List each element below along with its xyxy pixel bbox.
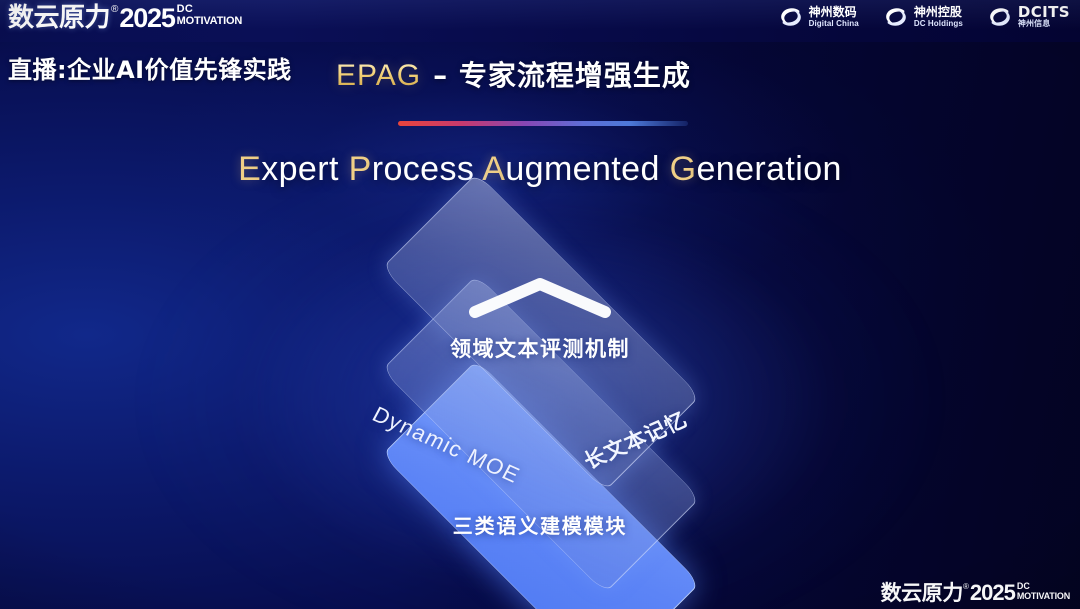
subtitle-part: xpert xyxy=(261,150,348,188)
footer-watermark-logo: 数云原力 ® 2025 DC MOTIVATION xyxy=(881,581,1070,605)
subtitle-expansion: Expert Process Augmented Generation xyxy=(238,150,842,189)
partner-name-en: Digital China xyxy=(809,19,859,29)
subtitle-part: E xyxy=(238,150,261,188)
watermark-subtag: DC MOTIVATION xyxy=(1017,582,1070,601)
presentation-slide: 数云原力 ® 2025 DC MOTIVATION 直播:企业AI价值先锋实践 … xyxy=(0,0,1080,609)
partner-name-en: DC Holdings xyxy=(914,19,963,29)
live-broadcast-label: 直播:企业AI价值先锋实践 xyxy=(8,50,292,85)
watermark-year: 2025 xyxy=(970,581,1015,605)
watermark-dc: DC xyxy=(1017,582,1070,591)
partner-logo-text: DCITS 神州信息 xyxy=(1018,6,1070,29)
partner-logo-group: 神州数码 Digital China 神州控股 DC Holdings DCIT… xyxy=(778,4,1070,30)
title-chinese: – 专家流程增强生成 xyxy=(433,54,691,94)
subtitle-part: P xyxy=(349,150,372,188)
registered-mark-icon: ® xyxy=(963,581,969,592)
swirl-logo-icon xyxy=(883,4,909,30)
swirl-logo-icon xyxy=(778,4,804,30)
brand-motivation: MOTIVATION xyxy=(177,15,242,27)
watermark-motivation: MOTIVATION xyxy=(1017,591,1070,601)
partner-logo-text: 神州控股 DC Holdings xyxy=(914,6,963,29)
title-acronym: EPAG xyxy=(336,59,421,93)
registered-mark-icon: ® xyxy=(111,3,118,17)
title-divider xyxy=(398,121,688,126)
partner-name-en: DCITS xyxy=(1018,6,1070,19)
swirl-logo-icon xyxy=(987,4,1013,30)
partner-name-cn: 神州数码 xyxy=(809,6,859,19)
brand-year: 2025 xyxy=(119,3,174,33)
brand-subtag: DC MOTIVATION xyxy=(177,4,242,27)
partner-name-cn: 神州控股 xyxy=(914,6,963,19)
partner-logo-text: 神州数码 Digital China xyxy=(809,6,859,29)
partner-logo-digital-china: 神州数码 Digital China xyxy=(778,4,859,30)
subtitle-part: G xyxy=(670,150,697,188)
brand-dc: DC xyxy=(177,4,242,15)
subtitle-part: rocess xyxy=(372,150,483,188)
subtitle-part: eneration xyxy=(696,150,841,188)
partner-logo-dcits: DCITS 神州信息 xyxy=(987,4,1070,30)
background-core-glow xyxy=(130,140,950,609)
subtitle-part: A xyxy=(482,150,505,188)
brand-name-cn: 数云原力 xyxy=(8,3,110,33)
partner-name-cn: 神州信息 xyxy=(1018,19,1070,29)
slide-title: EPAG – 专家流程增强生成 xyxy=(336,54,691,94)
partner-logo-dc-holdings: 神州控股 DC Holdings xyxy=(883,4,963,30)
watermark-name-cn: 数云原力 xyxy=(881,581,963,605)
brand-logo: 数云原力 ® 2025 DC MOTIVATION xyxy=(8,3,242,33)
subtitle-part: ugmented xyxy=(505,150,669,188)
